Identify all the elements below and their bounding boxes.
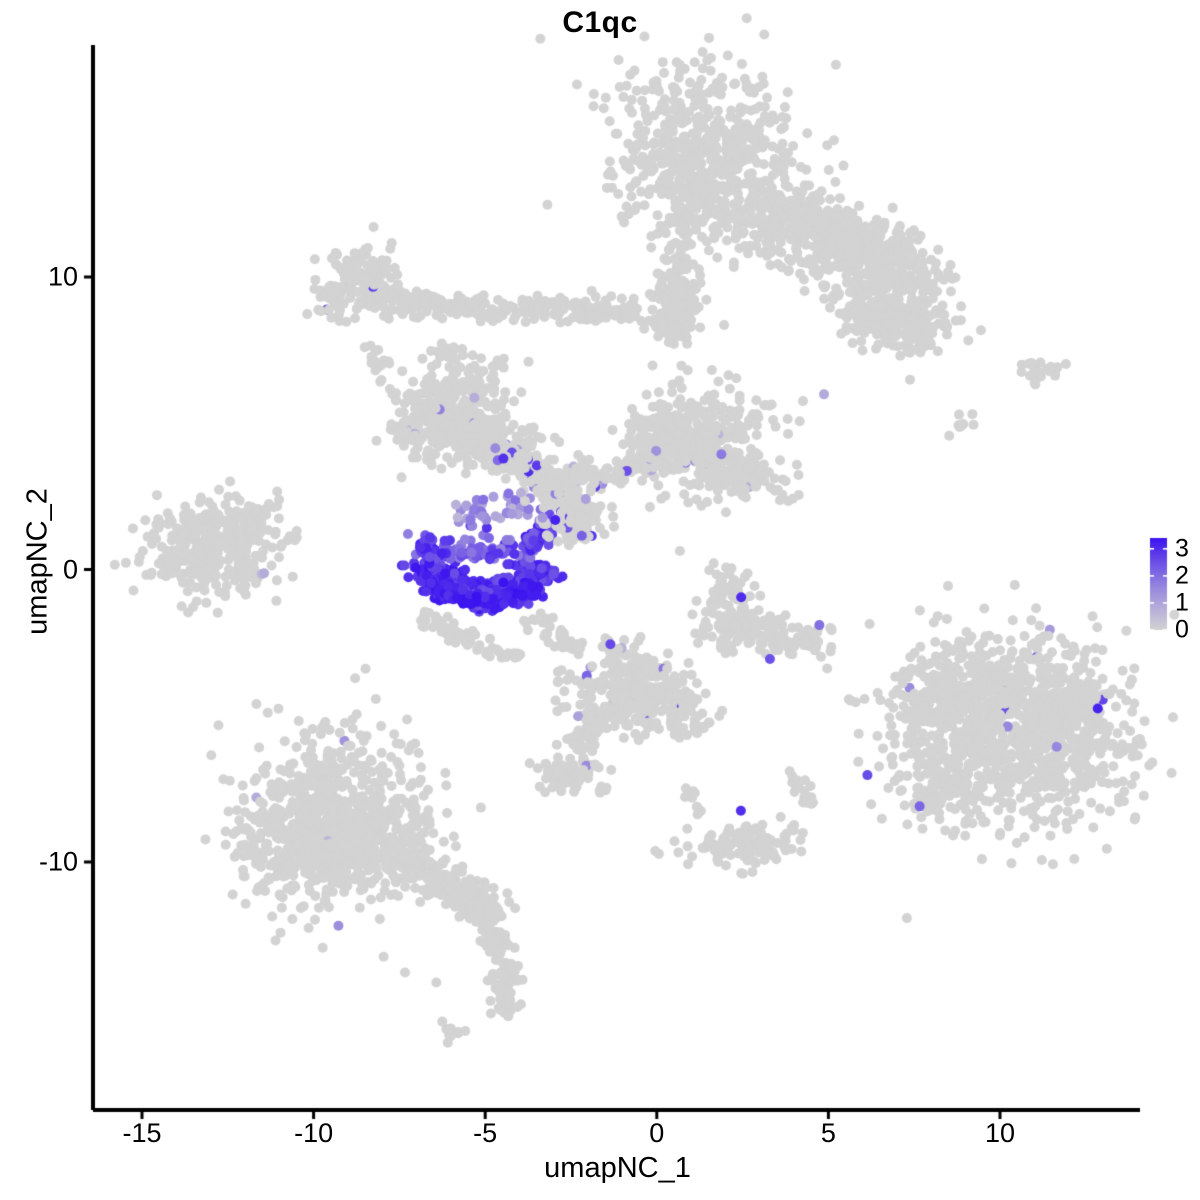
y-tick-label: 10 (10, 262, 78, 293)
y-tick-label: 0 (10, 554, 78, 585)
x-tick-label: -15 (122, 1118, 161, 1149)
colorbar-tick-label: 0 (1175, 616, 1189, 645)
x-tick-label: -5 (473, 1118, 497, 1149)
umap-feature-plot: C1qc umapNC_1 umapNC_2 -15-10-50510 100-… (0, 0, 1200, 1200)
x-tick-label: 0 (649, 1118, 664, 1149)
colorbar-tick-label: 1 (1175, 588, 1189, 617)
y-tick-label: -10 (10, 847, 78, 878)
x-tick-label: 10 (985, 1118, 1015, 1149)
colorbar-tick-label: 3 (1175, 534, 1189, 563)
x-axis-label: umapNC_1 (0, 1152, 1200, 1185)
x-tick-label: 5 (821, 1118, 836, 1149)
x-tick-label: -10 (294, 1118, 333, 1149)
colorbar-tick-label: 2 (1175, 561, 1189, 590)
scatter-plot-canvas (0, 0, 1200, 1200)
